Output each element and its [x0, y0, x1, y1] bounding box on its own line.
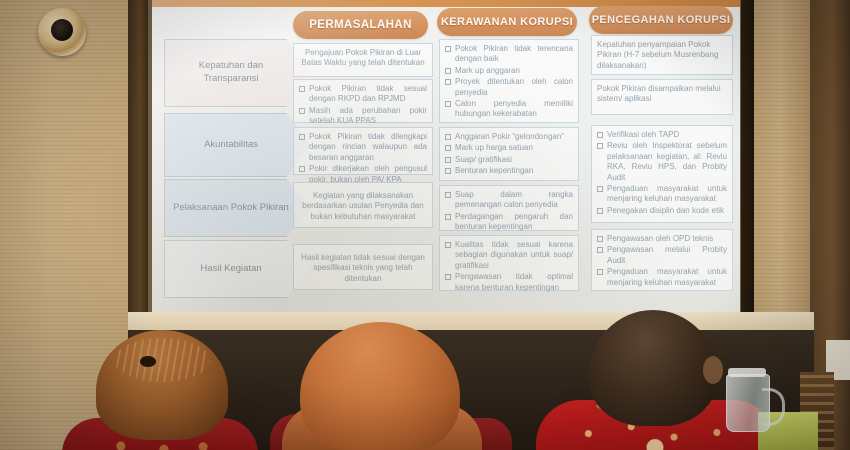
- column-header-kerawanan-korupsi: KERAWANAN KORUPSI: [437, 8, 577, 36]
- conference-room-photo: PERMASALAHAN KERAWANAN KORUPSI PENCEGAHA…: [0, 0, 850, 450]
- bullet-list: Pokok Pikiran tidak terencana dengan bai…: [445, 44, 573, 120]
- bullet-item: Perdagangan pengaruh dan benturan kepent…: [445, 212, 573, 233]
- bullet-item: Pengawasan melalui Probity Audit: [597, 245, 727, 266]
- hair-clip-icon: [140, 356, 156, 367]
- bullet-item: Reviu oleh Inspektorat sebelum pelaksana…: [597, 141, 727, 183]
- bullet-item: Pokok Pikiran tidak sesuai dengan RKPD d…: [299, 84, 427, 105]
- bullet-list: Suap dalam rangka pemenangan calon penye…: [445, 190, 573, 233]
- cell-kerawanan-r0: Pokok Pikiran tidak terencana dengan bai…: [439, 39, 579, 123]
- water-pitcher: [726, 374, 770, 432]
- ceiling-speaker-icon: [38, 8, 86, 56]
- cell-permasalahan-r3: Hasil kegiatan tidak sesuai dengan spesi…: [293, 244, 433, 290]
- bullet-list: Pengawasan oleh OPD teknis Pengawasan me…: [597, 234, 727, 288]
- attendee-left-hair: [96, 330, 228, 440]
- row-label-pelaksanaan-pokok-pikiran: Pelaksanaan Pokok Pikiran: [164, 179, 310, 237]
- row-label-kepatuhan-dan-transparansi: Kepatuhan dan Transparansi: [164, 39, 310, 107]
- bullet-item: Penegakan disiplin dan kode etik: [597, 206, 727, 216]
- bullet-item: Pokok Pikiran tidak terencana dengan bai…: [445, 44, 573, 65]
- bullet-list: Anggaran Pokir “gelondongan” Mark up har…: [445, 132, 573, 177]
- cell-kerawanan-r2: Suap dalam rangka pemenangan calon penye…: [439, 185, 579, 231]
- bullet-item: Suap dalam rangka pemenangan calon penye…: [445, 190, 573, 211]
- cell-pencegahan-r1: Verifikasi oleh TAPD Reviu oleh Inspekto…: [591, 125, 733, 223]
- row-label-akuntabilitas: Akuntabilitas: [164, 113, 310, 177]
- bullet-item: Pengawasan tidak optimal karena benturan…: [445, 272, 573, 293]
- bullet-list: Verifikasi oleh TAPD Reviu oleh Inspekto…: [597, 130, 727, 216]
- bullet-item: Anggaran Pokir “gelondongan”: [445, 132, 573, 142]
- cell-text: Pokok Pikiran disampaikan melalui sistem…: [597, 84, 727, 105]
- bullet-item: Suap/ gratifikasi: [445, 155, 573, 165]
- bullet-list: Pokok Pikiran tidak sesuai dengan RKPD d…: [299, 84, 427, 127]
- projection-screen: PERMASALAHAN KERAWANAN KORUPSI PENCEGAHA…: [152, 0, 740, 312]
- bullet-item: Calon penyedia memiliki hubungan kekerab…: [445, 99, 573, 120]
- cell-text: Kegiatan yang dilaksanakan berdasarkan u…: [299, 191, 427, 222]
- attendee-right-ear: [703, 356, 723, 384]
- column-header-permasalahan: PERMASALAHAN: [293, 11, 428, 39]
- cell-pencegahan-r0-b: Pokok Pikiran disampaikan melalui sistem…: [591, 79, 733, 115]
- column-header-pencegahan-korupsi: PENCEGAHAN KORUPSI: [589, 6, 733, 34]
- bullet-item: Proyek ditentukan oleh calon penyedia: [445, 77, 573, 98]
- cell-permasalahan-r0-a: Pengajuan Pokok Pikiran di Luar Batas Wa…: [293, 43, 433, 77]
- cell-text: Hasil kegiatan tidak sesuai dengan spesi…: [299, 253, 427, 284]
- cell-permasalahan-r0-b: Pokok Pikiran tidak sesuai dengan RKPD d…: [293, 79, 433, 123]
- bullet-item: Pokok Pikiran tidak dilengkapi dengan ri…: [299, 132, 427, 163]
- row-label-hasil-kegiatan: Hasil Kegiatan: [164, 240, 310, 298]
- cell-permasalahan-r1: Pokok Pikiran tidak dilengkapi dengan ri…: [293, 127, 433, 175]
- cell-text: Pengajuan Pokok Pikiran di Luar Batas Wa…: [299, 48, 427, 69]
- bullet-item: Mark up harga satuan: [445, 143, 573, 153]
- bullet-list: Kualitas tidak sesuai karena sebagian di…: [445, 240, 573, 293]
- cell-permasalahan-r2: Kegiatan yang dilaksanakan berdasarkan u…: [293, 182, 433, 228]
- cell-pencegahan-r3: Pengawasan oleh OPD teknis Pengawasan me…: [591, 229, 733, 291]
- bullet-item: Benturan kepentingan: [445, 166, 573, 176]
- screen-frame-right: [741, 0, 754, 340]
- bullet-item: Masih ada perubahan pokir setelah KUA PP…: [299, 106, 427, 127]
- bullet-item: Kualitas tidak sesuai karena sebagian di…: [445, 240, 573, 271]
- bullet-item: Pengaduan masyarakat untuk menjaring kel…: [597, 267, 727, 288]
- bullet-item: Pengawasan oleh OPD teknis: [597, 234, 727, 244]
- table-surface: [128, 312, 814, 332]
- slide-content: PERMASALAHAN KERAWANAN KORUPSI PENCEGAHA…: [152, 7, 740, 312]
- bullet-item: Pengaduan masyarakat untuk menjaring kel…: [597, 184, 727, 205]
- bullet-item: Verifikasi oleh TAPD: [597, 130, 727, 140]
- pitcher-lid: [728, 368, 766, 377]
- bullet-list: Pokok Pikiran tidak dilengkapi dengan ri…: [299, 132, 427, 185]
- bullet-item: Mark up anggaran: [445, 66, 573, 76]
- cell-pencegahan-r0-a: Kepatuhan penyampaian Pokok Pikiran (H-7…: [591, 35, 733, 75]
- cell-kerawanan-r1: Anggaran Pokir “gelondongan” Mark up har…: [439, 127, 579, 181]
- cell-kerawanan-r3: Kualitas tidak sesuai karena sebagian di…: [439, 235, 579, 291]
- cell-text: Kepatuhan penyampaian Pokok Pikiran (H-7…: [597, 40, 727, 71]
